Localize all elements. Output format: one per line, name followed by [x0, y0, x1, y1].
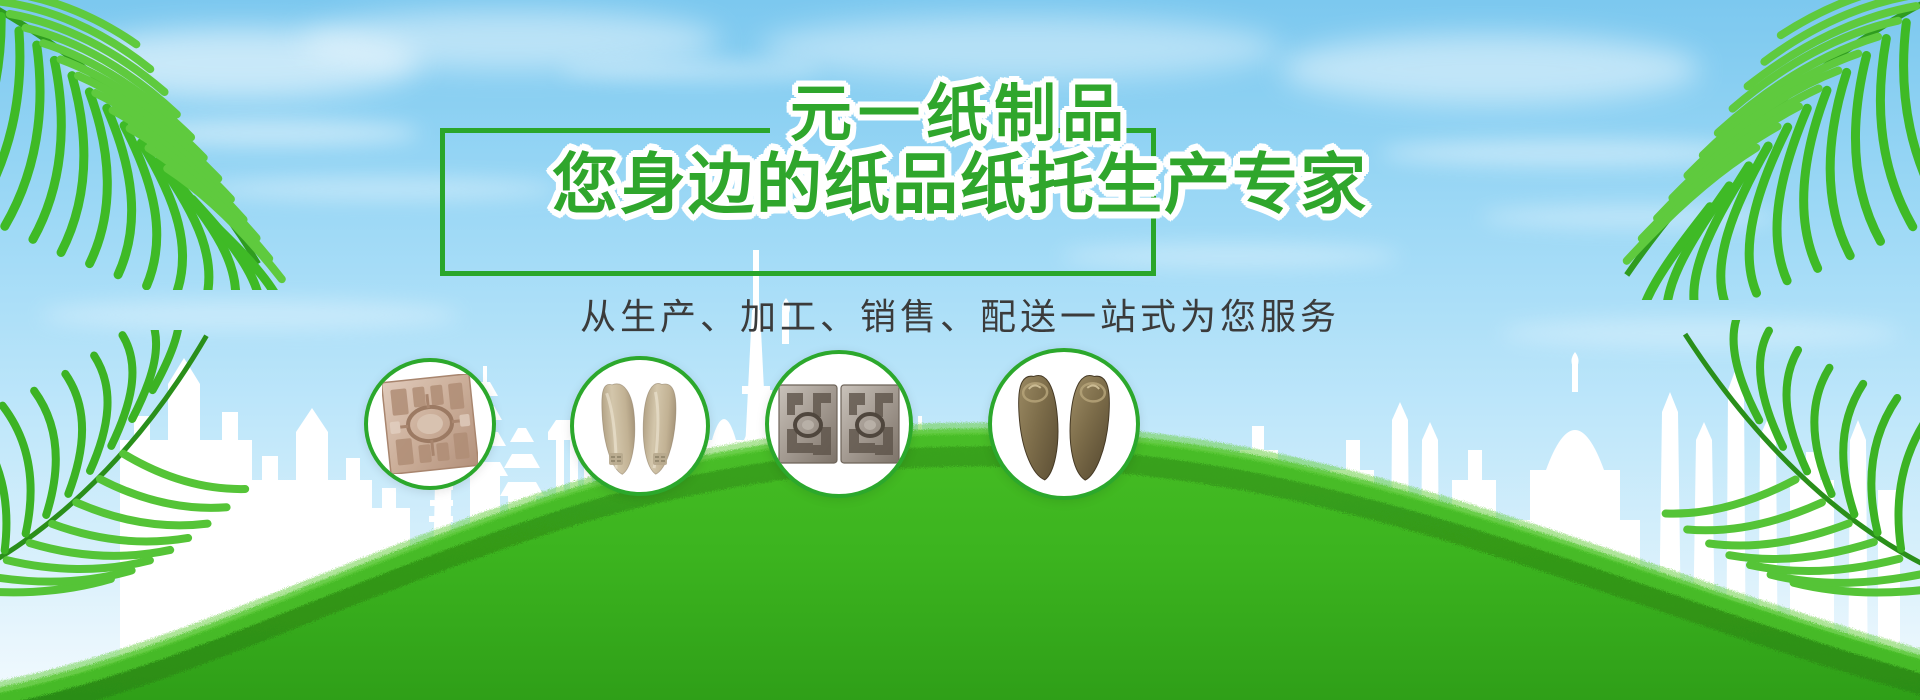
- promo-banner: 元一纸制品 您身边的纸品纸托生产专家 从生产、加工、销售、配送一站式为您服务: [0, 0, 1920, 700]
- brown-pulp-shoe-form-pair-image: [1004, 364, 1124, 484]
- product-circle-3[interactable]: [765, 350, 913, 498]
- product-circle-4[interactable]: [988, 348, 1140, 500]
- grey-pulp-tray-pair-image: [777, 379, 901, 469]
- paper-pulp-insert-image: [382, 374, 478, 474]
- product-circle-2[interactable]: [570, 356, 710, 496]
- product-circle-row: [0, 0, 1920, 700]
- product-circle-1[interactable]: [364, 358, 496, 490]
- pulp-shoe-tree-pair-image: [585, 371, 695, 481]
